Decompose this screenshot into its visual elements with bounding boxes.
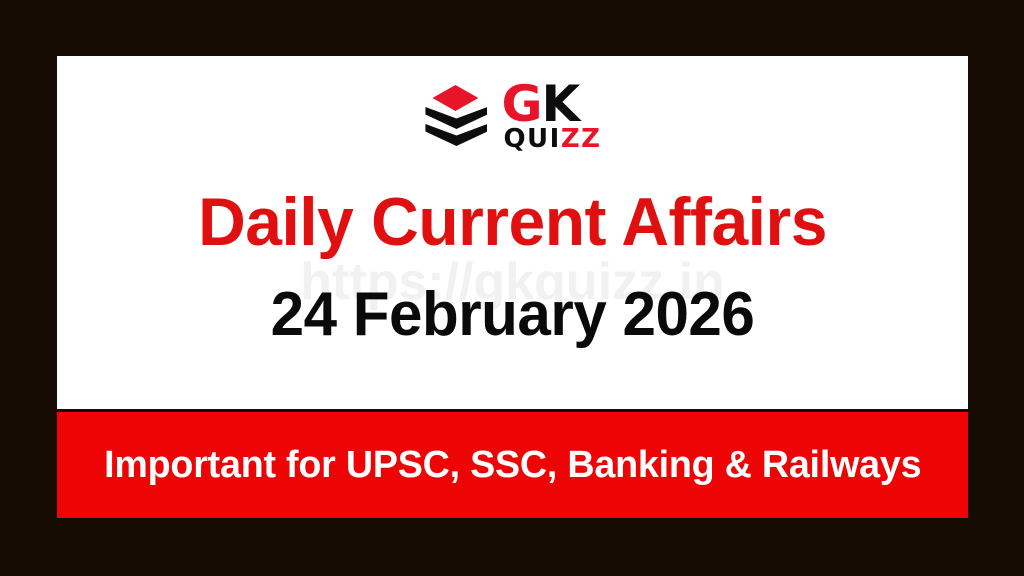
logo-wordmark-gk: GK <box>501 81 579 127</box>
stacked-layers-icon <box>423 85 491 147</box>
page-date: 24 February 2026 <box>71 284 955 346</box>
logo-letters-zz: ZZ <box>561 124 602 154</box>
site-logo[interactable]: GK QUIZZ <box>57 78 968 154</box>
banner-text: Important for UPSC, SSC, Banking & Railw… <box>104 444 921 487</box>
logo-wordmark: GK QUIZZ <box>501 81 601 152</box>
poster-card: GK QUIZZ https://gkquizz.in Daily Curren… <box>57 56 968 409</box>
logo-letters-qui: QUI <box>503 124 560 154</box>
headline-block: Daily Current Affairs 24 February 2026 <box>57 188 968 346</box>
logo-wordmark-quizz: QUIZZ <box>503 128 601 152</box>
exam-relevance-banner: Important for UPSC, SSC, Banking & Railw… <box>57 412 968 518</box>
diamond-shape-icon <box>432 85 478 111</box>
poster-stage: GK QUIZZ https://gkquizz.in Daily Curren… <box>0 0 1024 576</box>
page-title: Daily Current Affairs <box>71 188 955 256</box>
